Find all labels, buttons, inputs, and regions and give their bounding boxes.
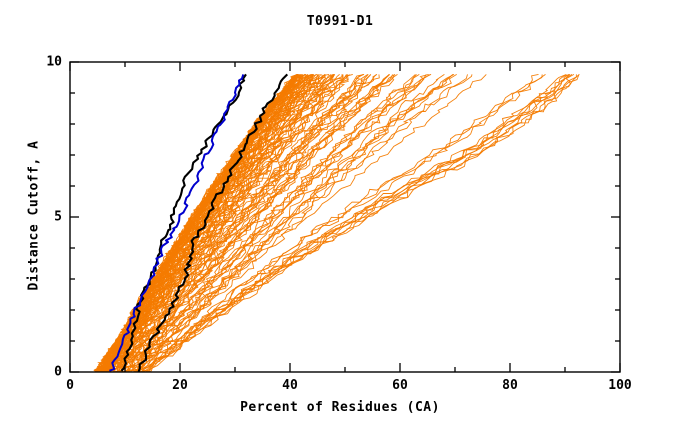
x-axis-title: Percent of Residues (CA): [0, 400, 680, 415]
chart-page: T0991-D1 Percent of Residues (CA) Distan…: [0, 0, 680, 440]
y-tick-label: 5: [36, 210, 62, 225]
x-tick-label: 20: [172, 378, 188, 393]
x-tick-label: 40: [282, 378, 298, 393]
x-tick-label: 80: [502, 378, 518, 393]
series-line-orange: [144, 74, 570, 372]
x-tick-label: 60: [392, 378, 408, 393]
y-tick-label: 10: [36, 55, 62, 70]
x-tick-label: 100: [608, 378, 631, 393]
y-tick-label: 0: [36, 365, 62, 380]
plot-area: [0, 0, 680, 440]
x-tick-label: 0: [66, 378, 74, 393]
series-bundle-orange: [94, 74, 580, 372]
series-line-orange: [142, 74, 538, 372]
